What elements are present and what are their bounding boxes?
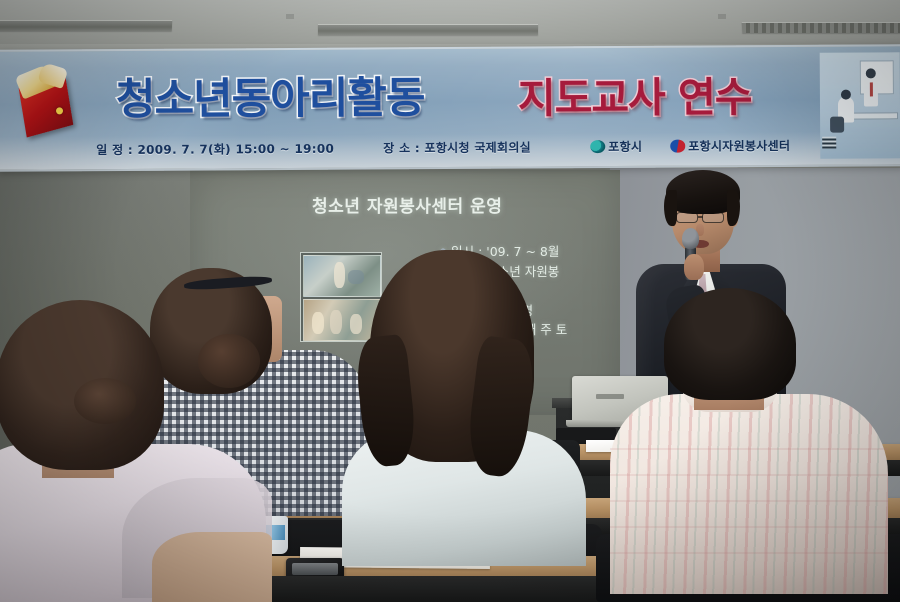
ceiling-vent-icon — [0, 20, 172, 31]
ceiling-fixture-icon — [718, 14, 726, 19]
banner-title-primary: 청소년동아리활동 — [116, 63, 425, 127]
slide-title: 청소년 자원봉사센터 운영 — [312, 192, 502, 217]
attendee-arm — [152, 532, 272, 602]
volunteer-center-logo-icon — [670, 140, 685, 153]
pohang-city-logo-label: 포항시 — [608, 140, 642, 154]
microphone-head-icon — [682, 228, 699, 249]
presenter-hair-side — [664, 190, 677, 226]
ceiling-vent-icon — [318, 24, 538, 35]
pohang-city-logo-icon — [590, 140, 605, 153]
classroom-illustration-icon — [820, 52, 900, 158]
shirt-stripes — [610, 424, 888, 554]
presenter-hand — [684, 254, 704, 280]
presenter-hair-side — [727, 190, 740, 226]
banner-footer: 일 정 : 2009. 7. 7(화) 15:00 ~ 19:00 장 소 : … — [0, 134, 900, 166]
banner-venue: 장 소 : 포항시청 국제회의실 — [383, 139, 531, 157]
volunteer-center-logo: 포항시자원봉사센터 — [670, 137, 790, 155]
gift-book-icon — [16, 63, 82, 137]
striped-shirt — [610, 394, 888, 594]
attendee-hair — [664, 288, 796, 400]
attendee-front-left — [0, 300, 276, 602]
banner-title-secondary: 지도교사 연수 — [518, 63, 752, 124]
attendee-hair — [0, 300, 164, 470]
attendee-right — [620, 288, 888, 588]
hair-bun — [74, 378, 136, 424]
pohang-city-logo: 포항시 — [590, 138, 642, 155]
ceiling-fixture-icon — [286, 14, 294, 19]
seminar-room-photo: 청소년 자원봉사센터 운영 일시 : '09. 7 ~ 8월 대상 : 청소년 … — [0, 0, 900, 602]
hair-band-icon — [184, 275, 272, 291]
event-banner: 청소년동아리활동 지도교사 연수 일 정 : 2009. 7. 7(화) 15:… — [0, 44, 900, 172]
glasses-bridge — [698, 216, 703, 218]
ceiling-vent-icon — [742, 22, 900, 33]
attendee-center — [346, 250, 586, 550]
volunteer-center-logo-label: 포항시자원봉사센터 — [688, 139, 790, 154]
banner-schedule: 일 정 : 2009. 7. 7(화) 15:00 ~ 19:00 — [96, 140, 334, 158]
